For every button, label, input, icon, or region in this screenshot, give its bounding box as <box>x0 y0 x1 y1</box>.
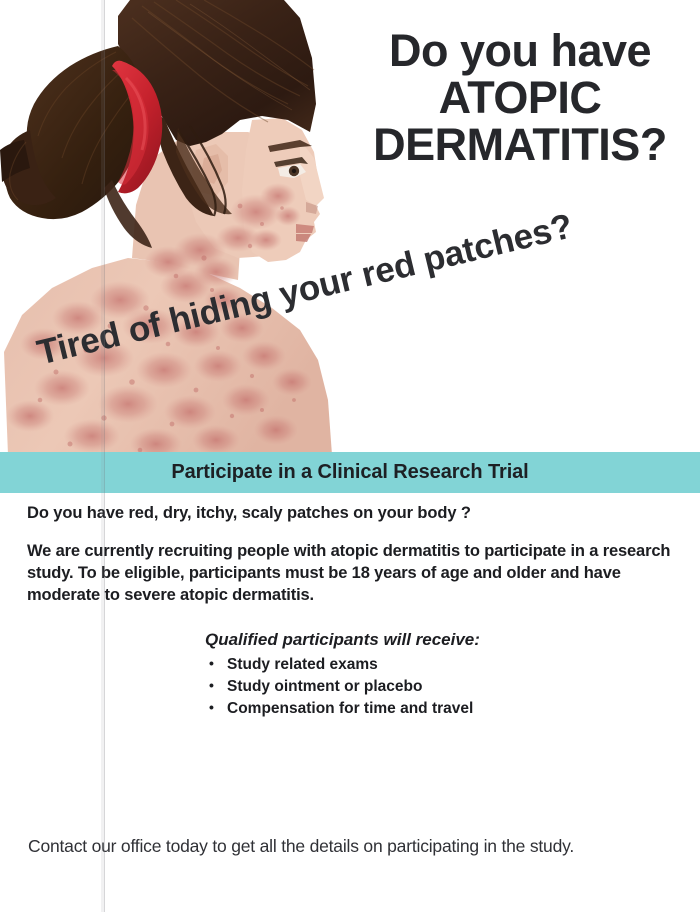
poster-page: Do you have ATOPIC DERMATITIS? Tired of … <box>0 0 700 912</box>
banner-title: Participate in a Clinical Research Trial <box>171 461 528 484</box>
patient-photo <box>0 0 340 455</box>
lead-question: Do you have red, dry, itchy, scaly patch… <box>27 504 672 523</box>
recruiting-paragraph: We are currently recruiting people with … <box>27 541 672 606</box>
contact-call-to-action: Contact our office today to get all the … <box>28 836 678 857</box>
body-copy: Do you have red, dry, itchy, scaly patch… <box>27 504 672 606</box>
qualified-participants-section: Qualified participants will receive: Stu… <box>205 630 480 720</box>
page-title: Do you have ATOPIC DERMATITIS? <box>352 28 688 168</box>
headline-line-2: ATOPIC <box>352 75 688 122</box>
benefits-list: Study related exams Study ointment or pl… <box>205 654 480 720</box>
list-item: Study ointment or placebo <box>205 676 480 698</box>
list-item: Study related exams <box>205 654 480 676</box>
qualified-participants-title: Qualified participants will receive: <box>205 630 480 650</box>
banner: Participate in a Clinical Research Trial <box>0 452 700 493</box>
list-item: Compensation for time and travel <box>205 698 480 720</box>
headline-line-3: DERMATITIS? <box>352 122 688 169</box>
headline-line-1: Do you have <box>352 28 688 75</box>
